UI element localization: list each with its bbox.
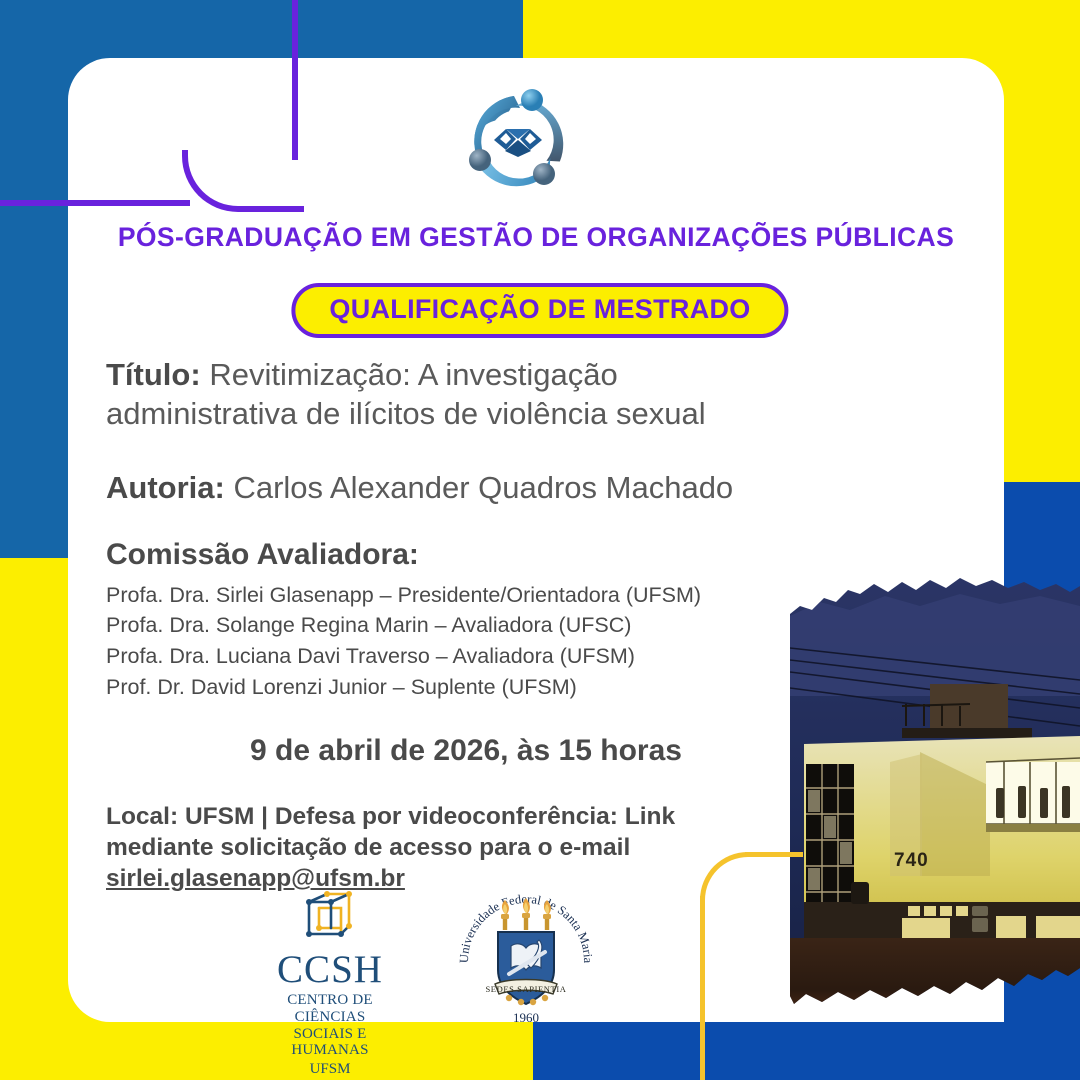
author-block: Autoria: Carlos Alexander Quadros Machad… [106, 470, 982, 506]
ccsh-subtitle: CENTRO DE CIÊNCIAS SOCIAIS E HUMANAS [255, 992, 405, 1059]
committee-heading: Comissão Avaliadora: [106, 538, 982, 572]
footer-logos: CCSH CENTRO DE CIÊNCIAS SOCIAIS E HUMANA… [255, 888, 601, 1078]
ccsh-logo: CCSH CENTRO DE CIÊNCIAS SOCIAIS E HUMANA… [255, 888, 405, 1078]
list-item: Prof. Dr. David Lorenzi Junior – Suplent… [106, 672, 982, 703]
ccsh-subtitle-line-2: SOCIAIS E HUMANAS [255, 1026, 405, 1060]
ccsh-acronym: CCSH [255, 950, 405, 989]
status-badge: QUALIFICAÇÃO DE MESTRADO [291, 283, 788, 338]
location-line-2: mediante solicitação de acesso para o e-… [106, 834, 630, 861]
list-item: Profa. Dra. Solange Regina Marin – Avali… [106, 610, 982, 641]
ppgop-triskelion-logo [434, 78, 602, 206]
event-datetime: 9 de abril de 2026, às 15 horas [106, 734, 826, 768]
author-label: Autoria: [106, 470, 225, 505]
ufsm-motto: SEDES SAPIENTIA [485, 984, 566, 994]
yellow-accent-line-vertical [700, 896, 705, 1080]
thesis-title-label: Título: [106, 357, 201, 392]
ufsm-founding-year: 1960 [513, 1010, 539, 1025]
author-name: Carlos Alexander Quadros Machado [233, 470, 733, 505]
ufsm-seal-icon: Universidade Federal de Santa Maria [451, 888, 601, 1026]
event-location-block: Local: UFSM | Defesa por videoconferênci… [106, 802, 766, 895]
thesis-title-line2: administrativa de ilícitos de violência … [106, 395, 978, 434]
purple-accent-line-horizontal [0, 200, 190, 206]
page-title: PÓS-GRADUAÇÃO EM GESTÃO DE ORGANIZAÇÕES … [68, 222, 1004, 253]
purple-accent-line-vertical [292, 0, 298, 160]
location-line-1: Local: UFSM | Defesa por videoconferênci… [106, 803, 675, 830]
ccsh-university: UFSM [255, 1061, 405, 1078]
list-item: Profa. Dra. Luciana Davi Traverso – Aval… [106, 641, 982, 672]
background-block-blue-bottom [533, 1022, 1080, 1080]
ccsh-cube-icon [297, 888, 363, 948]
committee-list: Profa. Dra. Sirlei Glasenapp – President… [106, 580, 982, 703]
ccsh-subtitle-line-1: CENTRO DE CIÊNCIAS [255, 992, 405, 1026]
poster-root: 740 [0, 0, 1080, 1080]
list-item: Profa. Dra. Sirlei Glasenapp – President… [106, 580, 982, 611]
thesis-title-line1: Revitimização: A investigação [209, 357, 617, 392]
thesis-title-block: Título: Revitimização: A investigação ad… [106, 356, 978, 434]
main-content: Título: Revitimização: A investigação ad… [106, 356, 982, 895]
